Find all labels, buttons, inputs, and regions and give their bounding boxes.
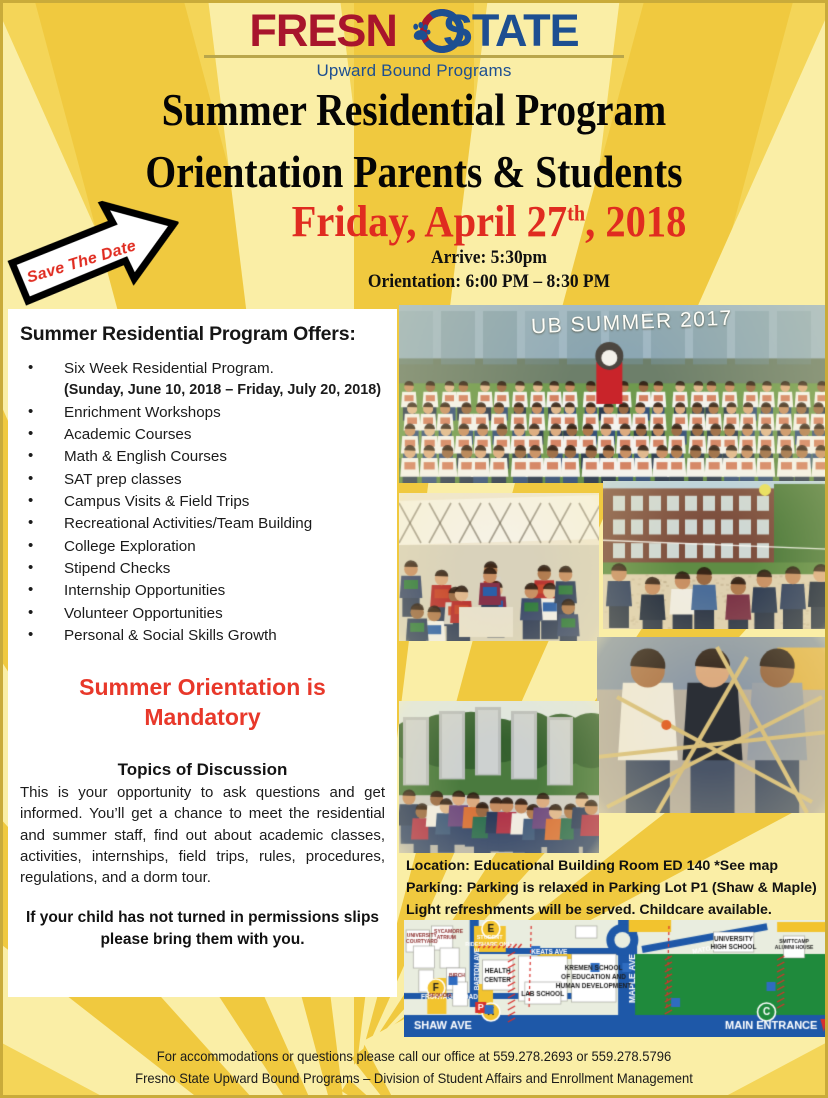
arrive-time: Arrive: 5:30pm <box>177 246 801 270</box>
offers-list-item: SAT prep classes <box>22 469 389 491</box>
photo-collage: UB SUMMER 2017 <box>399 305 828 865</box>
parking-line: Parking: Parking is relaxed in Parking L… <box>406 877 828 899</box>
event-date: Friday, April 27th, 2018 <box>177 200 801 244</box>
footer: For accommodations or questions please c… <box>29 1046 799 1089</box>
offers-list-item: Stipend Checks <box>22 558 389 580</box>
campus-sign-group-photo <box>399 701 599 853</box>
offers-list-item: Academic Courses <box>22 424 389 446</box>
offers-list-item: Six Week Residential Program. <box>22 358 389 380</box>
mandatory-line2: Mandatory <box>34 703 371 732</box>
event-date-year: , 2018 <box>585 197 686 246</box>
footer-department: Fresno State Upward Bound Programs – Div… <box>29 1068 799 1090</box>
fresno-state-campus-map <box>404 920 828 1037</box>
sand-volleyball-photo <box>603 481 828 629</box>
offers-list-item: Internship Opportunities <box>22 580 389 602</box>
mandatory-line1: Summer Orientation is <box>34 673 371 702</box>
offers-list-item: College Exploration <box>22 536 389 558</box>
topics-heading: Topics of Discussion <box>8 760 397 780</box>
mandatory-notice: Summer Orientation is Mandatory <box>34 673 371 732</box>
event-date-main: Friday, April 27 <box>292 197 568 246</box>
offers-list-item: Enrichment Workshops <box>22 402 389 424</box>
offers-list-item: Personal & Social Skills Growth <box>22 625 389 647</box>
location-info: Location: Educational Building Room ED 1… <box>406 855 828 921</box>
fresno-state-logo: FRESN STATE Upward Bound Programs <box>0 8 828 81</box>
logo-fresno-text: FRESN <box>249 8 397 53</box>
offers-panel: Summer Residential Program Offers: Six W… <box>8 309 397 997</box>
topics-body: This is your opportunity to ask question… <box>20 782 385 888</box>
footer-contact: For accommodations or questions please c… <box>29 1046 799 1068</box>
refreshments-line: Light refreshments will be served. Child… <box>406 899 828 921</box>
offers-list-item: Math & English Courses <box>22 446 389 468</box>
team-building-sticks-photo <box>597 637 828 813</box>
location-line: Location: Educational Building Room ED 1… <box>406 855 828 877</box>
offers-list-item: Recreational Activities/Team Building <box>22 513 389 535</box>
logo-subtitle: Upward Bound Programs <box>0 61 828 81</box>
paw-print-o-icon <box>398 9 442 53</box>
orientation-time: Orientation: 6:00 PM – 8:30 PM <box>177 270 801 294</box>
offers-list-item: (Sunday, June 10, 2018 – Friday, July 20… <box>22 380 389 401</box>
permission-slip-note: If your child has not turned in permissi… <box>24 907 381 951</box>
event-date-ordinal: th <box>567 200 585 225</box>
flyer-page: FRESN STATE Upward Bound Programs Summer… <box>0 0 828 1098</box>
students-reading-canopy-photo <box>399 493 599 641</box>
offers-list-item: Campus Visits & Field Trips <box>22 491 389 513</box>
page-title-line1: Summer Residential Program <box>50 88 779 133</box>
event-times: Arrive: 5:30pm Orientation: 6:00 PM – 8:… <box>177 246 801 294</box>
offers-list-item: Volunteer Opportunities <box>22 603 389 625</box>
offers-heading: Summer Residential Program Offers: <box>20 323 397 346</box>
offers-list: Six Week Residential Program.(Sunday, Ju… <box>8 358 397 647</box>
